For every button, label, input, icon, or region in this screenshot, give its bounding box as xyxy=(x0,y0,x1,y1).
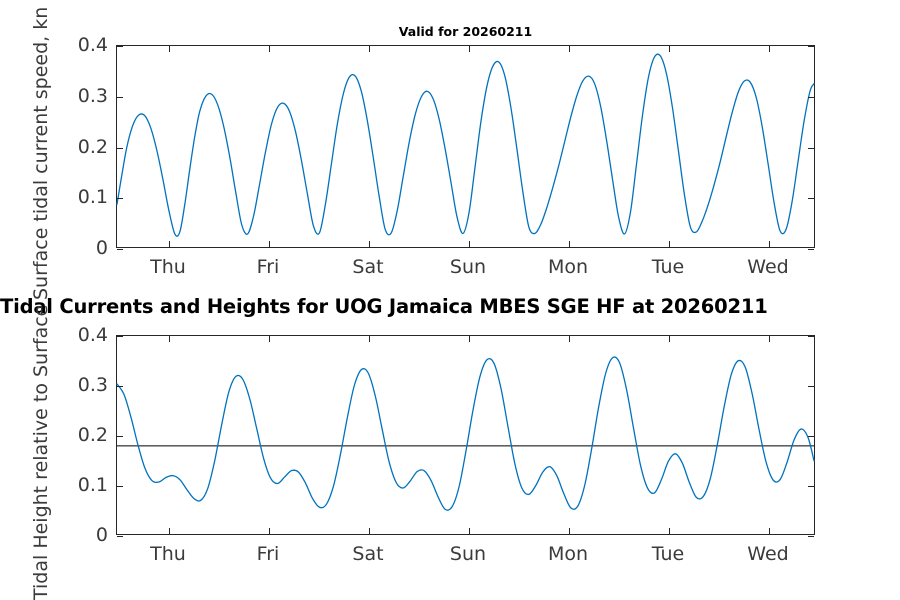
y-axis-tick xyxy=(808,436,814,437)
x-axis-tick xyxy=(269,241,270,247)
x-axis-tick-label: Thu xyxy=(150,543,186,565)
y-axis-tick xyxy=(117,436,123,437)
y-axis-tick xyxy=(117,336,123,337)
x-axis-tick xyxy=(369,336,370,342)
y-axis-tick xyxy=(808,97,814,98)
y-axis-tick xyxy=(117,486,123,487)
x-axis-tick xyxy=(169,528,170,534)
x-axis-tick-label: Tue xyxy=(652,543,684,565)
y-axis-tick xyxy=(808,198,814,199)
x-axis-tick xyxy=(769,46,770,52)
subplot-title-current: Valid for 20260211 xyxy=(116,24,815,39)
x-axis-tick xyxy=(569,336,570,342)
x-axis-tick xyxy=(569,528,570,534)
axes-tidal-height xyxy=(116,335,815,535)
y-axis-tick xyxy=(117,249,123,250)
x-axis-tick xyxy=(669,241,670,247)
y-axis-tick xyxy=(808,46,814,47)
y-axis-tick xyxy=(808,536,814,537)
plot-area-current xyxy=(117,46,814,247)
x-axis-tick xyxy=(369,528,370,534)
x-axis-tick-label: Sun xyxy=(450,543,486,565)
x-axis-tick-label: Sat xyxy=(352,543,383,565)
y-axis-tick-label: 0.4 xyxy=(48,324,108,346)
figure-main-title: Tidal Currents and Heights for UOG Jamai… xyxy=(0,294,900,320)
y-axis-tick xyxy=(808,249,814,250)
x-axis-tick-label: Sun xyxy=(450,256,486,278)
y-axis-tick xyxy=(117,198,123,199)
y-axis-tick-label: 0 xyxy=(48,237,108,259)
x-axis-tick xyxy=(469,241,470,247)
x-axis-tick xyxy=(669,336,670,342)
x-axis-tick-label: Thu xyxy=(150,256,186,278)
y-axis-tick xyxy=(117,97,123,98)
y-axis-tick-label: 0.4 xyxy=(48,34,108,56)
x-axis-tick xyxy=(169,336,170,342)
x-axis-tick xyxy=(569,46,570,52)
plot-area-height xyxy=(117,336,814,534)
y-axis-tick-label: 0.2 xyxy=(48,136,108,158)
axes-current-speed xyxy=(116,45,815,248)
x-axis-tick xyxy=(469,46,470,52)
x-axis-tick-label: Fri xyxy=(257,543,280,565)
x-axis-tick xyxy=(269,46,270,52)
x-axis-tick xyxy=(769,241,770,247)
x-axis-tick xyxy=(169,241,170,247)
y-axis-tick-label: 0.1 xyxy=(48,186,108,208)
tidal-height-line-svg xyxy=(117,336,814,534)
figure-canvas: Valid for 20260211 Surface tidal current… xyxy=(0,0,900,600)
y-axis-tick xyxy=(808,486,814,487)
x-axis-tick-label: Fri xyxy=(257,256,280,278)
y-axis-tick xyxy=(117,148,123,149)
x-axis-tick xyxy=(769,528,770,534)
x-axis-tick-label: Wed xyxy=(747,543,788,565)
data-series-line xyxy=(117,357,814,510)
x-axis-tick xyxy=(669,46,670,52)
x-axis-tick xyxy=(569,241,570,247)
x-axis-tick-label: Tue xyxy=(652,256,684,278)
y-axis-label-height: Tidal Height relative to Surface xyxy=(30,305,52,600)
y-axis-tick-label: 0.2 xyxy=(48,424,108,446)
y-axis-tick xyxy=(117,386,123,387)
x-axis-tick xyxy=(269,336,270,342)
y-axis-tick xyxy=(117,46,123,47)
x-axis-tick xyxy=(469,528,470,534)
x-axis-tick xyxy=(469,336,470,342)
y-axis-tick xyxy=(117,536,123,537)
y-axis-tick-label: 0.3 xyxy=(48,85,108,107)
current-speed-line-svg xyxy=(117,46,814,247)
x-axis-tick-label: Sat xyxy=(352,256,383,278)
x-axis-tick xyxy=(369,46,370,52)
x-axis-tick-label: Mon xyxy=(548,256,588,278)
y-axis-tick-label: 0.3 xyxy=(48,374,108,396)
y-axis-tick-label: 0 xyxy=(48,524,108,546)
x-axis-tick xyxy=(269,528,270,534)
x-axis-tick xyxy=(369,241,370,247)
x-axis-tick xyxy=(169,46,170,52)
x-axis-tick-label: Wed xyxy=(747,256,788,278)
x-axis-tick xyxy=(669,528,670,534)
x-axis-tick xyxy=(769,336,770,342)
y-axis-tick xyxy=(808,336,814,337)
y-axis-tick xyxy=(808,386,814,387)
y-axis-tick xyxy=(808,148,814,149)
x-axis-tick-label: Mon xyxy=(548,543,588,565)
y-axis-tick-label: 0.1 xyxy=(48,474,108,496)
data-series-line xyxy=(117,54,814,236)
